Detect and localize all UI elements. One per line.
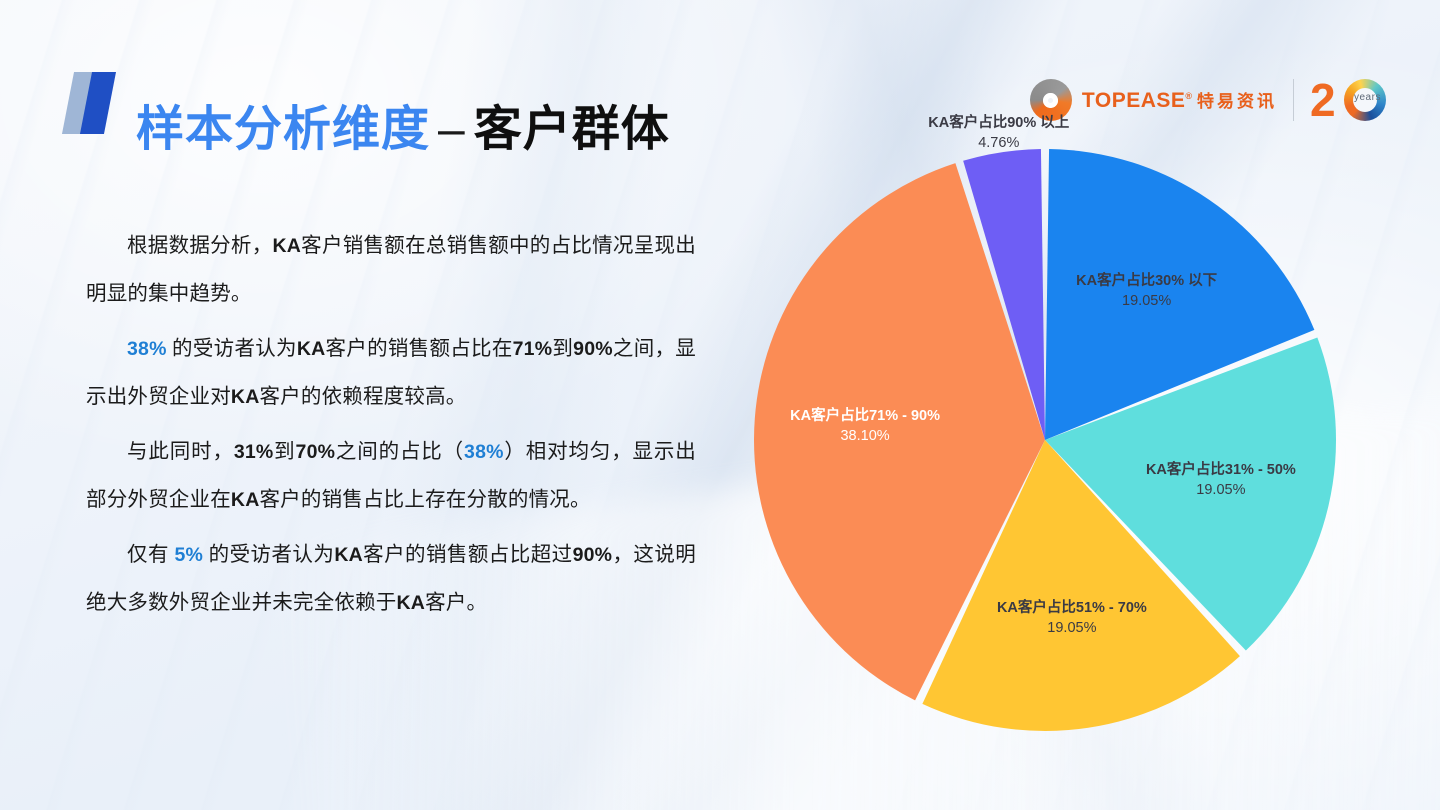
text-highlight: 38% [127, 338, 167, 360]
text-latin: 31% [234, 441, 274, 463]
text-run: 客户的依赖程度较高。 [259, 386, 466, 408]
text-run: 仅有 [127, 544, 174, 566]
topease-logo: TOPEASE® 特易资讯 [1030, 79, 1277, 121]
logo-trademark: ® [1185, 91, 1192, 101]
slide-canvas: 样本分析维度–客户群体 TOPEASE® 特易资讯 2 years 根据数据分析… [0, 0, 1440, 810]
body-paragraph-2: 38% 的受访者认为KA客户的销售额占比在71%到90%之间，显示出外贸企业对K… [86, 325, 696, 421]
topease-wordmark: TOPEASE® 特易资讯 [1082, 90, 1277, 111]
brand-logo: TOPEASE® 特易资讯 2 years [1030, 70, 1396, 130]
pie-chart-svg [752, 147, 1338, 733]
text-run: 客户的销售额占比在 [325, 338, 512, 360]
page-title-dash: – [430, 103, 474, 156]
anniversary-badge: 2 years [1310, 75, 1396, 125]
logo-name-en: TOPEASE® [1082, 89, 1193, 112]
page-title-accent: 样本分析维度 [136, 103, 430, 156]
body-copy: 根据数据分析，KA客户销售额在总销售额中的占比情况呈现出明显的集中趋势。38% … [86, 222, 696, 634]
text-run: 到 [552, 338, 573, 360]
text-run: 的受访者认为 [203, 544, 334, 566]
page-title-plain: 客户群体 [474, 103, 670, 156]
body-paragraph-1: 根据数据分析，KA客户销售额在总销售额中的占比情况呈现出明显的集中趋势。 [86, 222, 696, 318]
text-run: 的受访者认为 [167, 338, 297, 360]
logo-name-cn: 特易资讯 [1197, 92, 1277, 111]
text-latin: KA [297, 338, 326, 360]
text-highlight: 5% [174, 544, 203, 566]
text-latin: KA [231, 386, 260, 408]
anniversary-years-label: years [1354, 92, 1381, 103]
text-latin: KA [397, 592, 426, 614]
text-run: 根据数据分析， [127, 235, 273, 257]
title-accent-mark [66, 72, 122, 134]
slide-header: 样本分析维度–客户群体 TOPEASE® 特易资讯 2 years [0, 0, 1440, 150]
logo-divider [1293, 79, 1294, 121]
text-latin: 71% [513, 338, 553, 360]
text-latin: 90% [573, 544, 613, 566]
text-latin: KA [231, 489, 260, 511]
page-title: 样本分析维度–客户群体 [136, 94, 670, 166]
text-highlight: 38% [464, 441, 504, 463]
text-latin: KA [273, 235, 302, 257]
body-paragraph-4: 仅有 5% 的受访者认为KA客户的销售额占比超过90%，这说明绝大多数外贸企业并… [86, 531, 696, 627]
text-run: 到 [273, 441, 295, 463]
anniversary-number: 2 [1310, 77, 1334, 123]
text-run: 客户的销售占比上存在分散的情况。 [259, 489, 590, 511]
text-run: 与此同时， [127, 441, 234, 463]
text-latin: 70% [296, 441, 336, 463]
text-run: 之间的占比（ [335, 441, 464, 463]
body-paragraph-3: 与此同时，31%到70%之间的占比（38%）相对均匀，显示出部分外贸企业在KA客… [86, 428, 696, 524]
text-latin: KA [334, 544, 363, 566]
pie-chart: KA客户占比30% 以下19.05%KA客户占比31% - 50%19.05%K… [752, 147, 1338, 733]
text-run: 客户。 [425, 592, 487, 614]
topease-ring-icon [1030, 79, 1072, 121]
text-latin: 90% [573, 338, 613, 360]
text-run: 客户的销售额占比超过 [363, 544, 573, 566]
